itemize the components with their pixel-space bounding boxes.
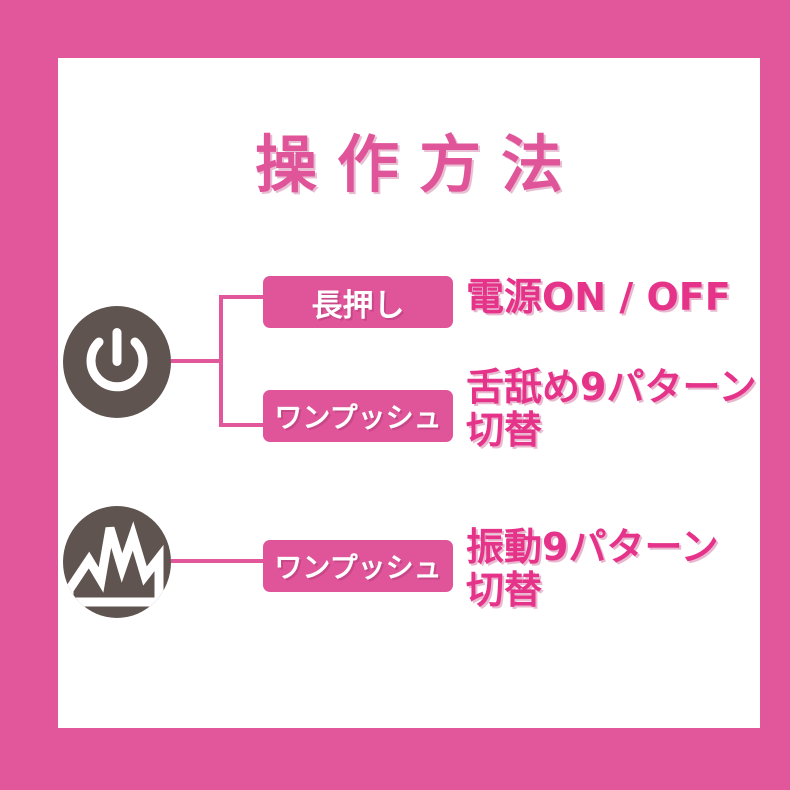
description-vibration-patterns: 振動9パターン 切替: [466, 526, 719, 611]
connector-line-vibration: [171, 559, 265, 563]
description-power-on-off: 電源ON / OFF: [466, 276, 731, 319]
connector-arm-top: [219, 295, 265, 299]
badge-one-push-power: ワンプッシュ: [263, 390, 453, 442]
vibration-wave-icon: [63, 506, 171, 618]
badge-long-press: 長押し: [263, 276, 453, 328]
power-button-group: 長押し ワンプッシュ 電源ON / OFF 舌舐め9パターン 切替: [58, 258, 760, 458]
page-title: 操作方法: [58, 134, 760, 196]
connector-stub: [171, 359, 223, 363]
vibration-group: ワンプッシュ 振動9パターン 切替: [58, 478, 760, 638]
connector-vertical: [219, 295, 223, 427]
badge-one-push-vibration: ワンプッシュ: [263, 540, 453, 592]
page-frame: 操作方法 長押し ワンプッシュ 電源ON / OFF 舌舐め9パターン 切替: [0, 0, 790, 790]
description-lick-patterns: 舌舐め9パターン 切替: [466, 366, 757, 451]
instruction-card: 操作方法 長押し ワンプッシュ 電源ON / OFF 舌舐め9パターン 切替: [58, 58, 760, 728]
connector-arm-bottom: [219, 423, 265, 427]
power-icon: [63, 306, 171, 418]
